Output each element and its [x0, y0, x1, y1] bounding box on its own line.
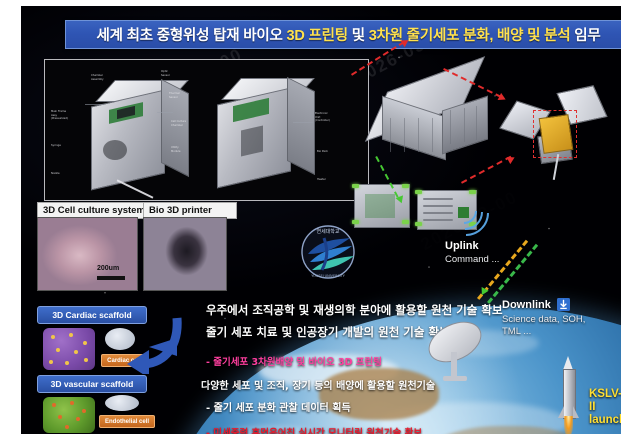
body-bullet-4: - 미세중력 휴먼온어칩 실시간 모니터링 원천기술 확보: [206, 425, 422, 434]
cad-annotation: Nozzle: [51, 172, 60, 176]
university-emblem: 연세대학교 YONSEI UNIVERSITY: [298, 224, 358, 280]
launch-caption-line-1: KSLV-II: [589, 388, 621, 414]
uplink-label: Uplink: [445, 240, 479, 252]
endothelial-cell-tag: Endothelial cell: [99, 415, 155, 428]
cad-annotation: ThermalSensor: [169, 92, 180, 99]
cad-annotation: Heater: [317, 178, 326, 182]
cad-annotation: Cell CultureChamber: [171, 120, 186, 127]
antenna-mast: [451, 352, 457, 378]
downlink-sublabel-line-1: Science data, SOH,: [502, 314, 585, 326]
cad-annotation: UtilityModule: [171, 146, 180, 153]
scale-bar-label: 200um: [97, 265, 119, 272]
downlink-sublabel-line-2: TML ...: [502, 326, 531, 338]
cad-annotation: OpticSensor: [161, 70, 170, 77]
rocket-exhaust-flame: [564, 416, 573, 434]
payload-cad-diagram-panel: ChamberAssembly Main FrameAssy(Pressuriz…: [44, 59, 369, 201]
endothelial-cell-illustration: [105, 395, 139, 411]
uplink-sublabel: Command ...: [445, 254, 499, 266]
svg-text:연세대학교: 연세대학교: [316, 228, 339, 235]
page-title: 세계 최초 중형위성 탑재 바이오 3D 프린팅 및 3차원 줄기세포 분화, …: [97, 24, 601, 45]
payload-highlight-box: [533, 110, 577, 158]
cad-annotation: Main FrameAssy(Pressurized): [51, 110, 68, 121]
ground-station-antenna: [421, 322, 491, 384]
body-bullet-1: - 줄기세포 3차원배양 및 바이오 3D 프린팅: [206, 354, 382, 368]
cell-culture-micrograph: 200um: [37, 217, 138, 291]
body-bullet-3: - 줄기 세포 분화 관찰 데이터 획득: [206, 399, 351, 414]
cad-annotation: Bio Pack: [317, 150, 328, 154]
slide-title-bar: 세계 최초 중형위성 탑재 바이오 3D 프린팅 및 3차원 줄기세포 분화, …: [65, 20, 621, 49]
bio-printer-micrograph: [143, 217, 227, 291]
title-highlight-1: 3D 프린팅: [287, 28, 348, 44]
scale-bar: [97, 276, 125, 280]
cad-annotation: ElectronicUnit(Controller): [315, 112, 330, 123]
download-icon: [557, 298, 570, 311]
rocket-fin-right: [573, 406, 579, 418]
body-text-line-1: 우주에서 조직공학 및 재생의학 분야에 활용할 원천 기술 확보: [206, 302, 503, 318]
cad-annotation: ChamberAssembly: [91, 74, 104, 81]
kslv-2-rocket: [559, 356, 585, 434]
vascular-scaffold-render: [43, 397, 95, 433]
satellite-spacecraft: [509, 82, 601, 186]
body-text-line-2: 줄기 세포 치료 및 인공장기 개발의 원천 기술 확보: [206, 324, 450, 340]
antenna-base: [443, 376, 467, 381]
presentation-slide: 2026-03-00 2026-03-00 2026-03-00 세계 최초 중…: [0, 0, 628, 439]
launch-caption-line-2: launch: [589, 414, 621, 427]
title-part-3: 임무: [570, 28, 600, 44]
title-part-1: 세계 최초 중형위성 탑재 바이오: [97, 28, 287, 44]
title-highlight-2: 3차원 줄기세포 분화, 배양 및 분석: [369, 28, 571, 44]
slide-canvas: 2026-03-00 2026-03-00 2026-03-00 세계 최초 중…: [21, 6, 621, 434]
body-bullet-2: 다양한 세포 및 조직, 장기 등의 배양에 활용할 원천기술: [201, 377, 435, 392]
scaffold-link-arrow: [145, 336, 177, 358]
rocket-nose-cone: [563, 356, 573, 370]
cad-annotation: Syringe: [51, 144, 61, 148]
downlink-label: Downlink: [502, 299, 551, 311]
pcb-green-board: [365, 194, 395, 218]
satellite-payload-structure: [376, 78, 494, 156]
svg-text:YONSEI UNIVERSITY: YONSEI UNIVERSITY: [311, 274, 346, 278]
title-part-2: 및: [348, 28, 369, 44]
cardiac-scaffold-render: [43, 328, 95, 370]
launch-caption: KSLV-II launch: [589, 388, 621, 428]
vascular-scaffold-label: 3D vascular scaffold: [37, 375, 147, 393]
